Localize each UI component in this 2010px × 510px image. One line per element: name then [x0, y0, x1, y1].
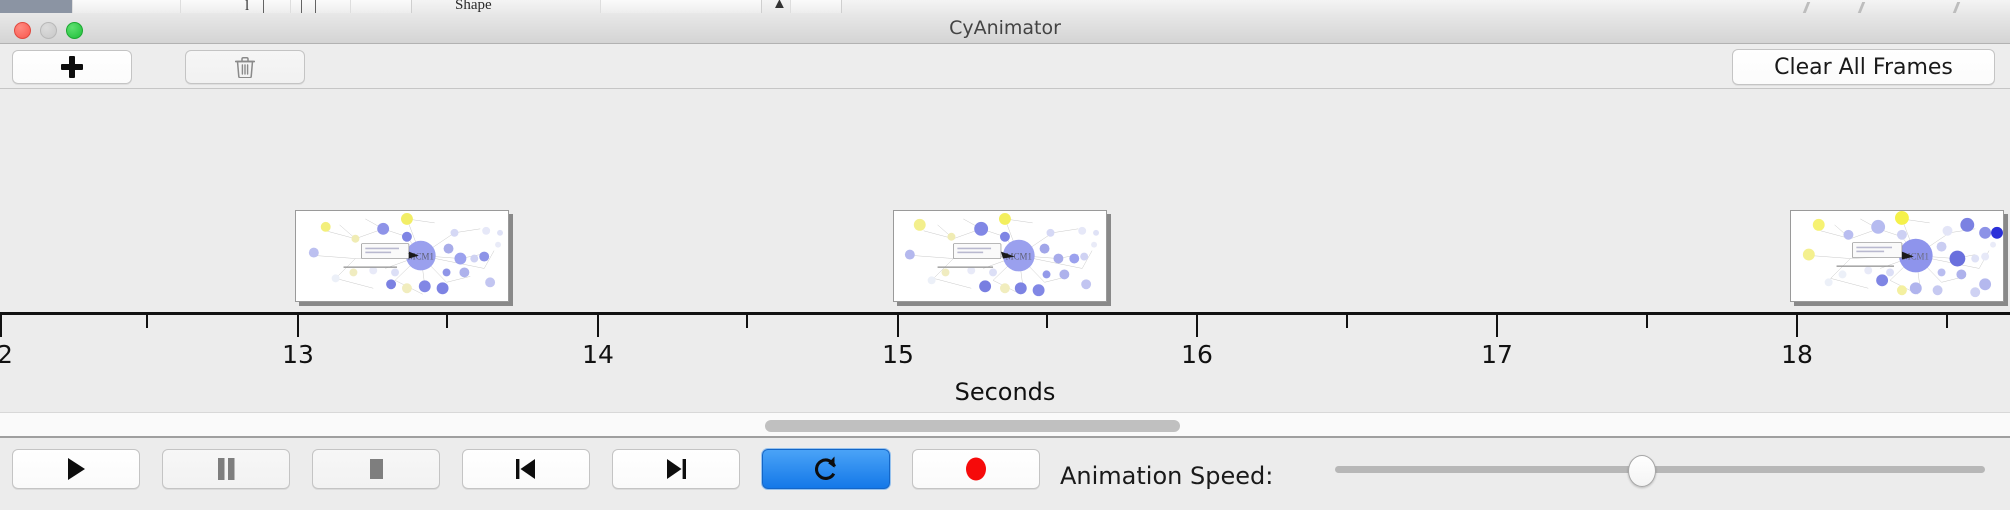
background-toolbar-chip [180, 0, 292, 13]
loop-button[interactable] [762, 449, 890, 489]
playback-controls: Animation Speed: [0, 440, 2010, 510]
clear-all-frames-button[interactable]: Clear All Frames [1732, 49, 1995, 85]
axis-tick-minor [746, 315, 748, 328]
add-frame-button[interactable] [12, 50, 132, 84]
skip-back-button[interactable] [462, 449, 590, 489]
axis-tick-minor [1946, 315, 1948, 328]
skip-forward-icon [663, 456, 689, 482]
network-thumbnail: MCM1 [1791, 211, 2003, 302]
axis-tick-major [1796, 315, 1798, 337]
axis-tick-major [597, 315, 599, 337]
timeline-axis [0, 312, 2010, 315]
background-window-sliver: l | | | Shape ▲ [0, 0, 2010, 14]
axis-tick-minor [446, 315, 448, 328]
stop-button[interactable] [312, 449, 440, 489]
timeline-panel[interactable]: MCM1 [0, 90, 2010, 412]
background-decoration [1953, 2, 1976, 13]
axis-tick-minor [1346, 315, 1348, 328]
axis-title: Seconds [0, 378, 2010, 406]
record-icon [963, 455, 989, 483]
axis-tick-minor [146, 315, 148, 328]
axis-tick-major [1196, 315, 1198, 337]
trash-icon [235, 56, 255, 78]
axis-tick-label: 17 [1481, 340, 1513, 369]
loop-icon [813, 455, 839, 483]
timeline-frame[interactable]: MCM1 [1790, 210, 2004, 302]
axis-tick-label: 14 [582, 340, 614, 369]
animation-speed-label: Animation Speed: [1060, 462, 1273, 490]
scrollbar-thumb[interactable] [765, 420, 1180, 432]
slider-track[interactable] [1335, 466, 1985, 473]
title-bar[interactable]: CyAnimator [0, 13, 2010, 44]
clear-all-frames-label: Clear All Frames [1774, 55, 1953, 80]
play-icon [64, 456, 88, 482]
toolbar: Clear All Frames [0, 44, 2010, 89]
axis-tick-label: 18 [1781, 340, 1813, 369]
axis-tick-minor [1646, 315, 1648, 328]
background-decoration [1858, 2, 1881, 13]
skip-back-icon [513, 456, 539, 482]
stop-icon [365, 456, 387, 482]
background-toolbar-chip [72, 0, 182, 13]
network-thumbnail: MCM1 [894, 211, 1106, 302]
axis-tick-major [0, 315, 2, 337]
timeline-frame[interactable]: MCM1 [893, 210, 1107, 302]
play-button[interactable] [12, 449, 140, 489]
axis-tick-label: 2 [0, 340, 13, 369]
axis-tick-minor [1046, 315, 1048, 328]
record-button[interactable] [912, 449, 1040, 489]
background-window-titlebar-chip [0, 0, 72, 13]
axis-tick-major [297, 315, 299, 337]
plus-icon [61, 56, 83, 78]
skip-forward-button[interactable] [612, 449, 740, 489]
background-window-label: Shape [455, 0, 492, 14]
background-toolbar-chip [790, 0, 842, 13]
delete-frame-button[interactable] [185, 50, 305, 84]
pause-icon [215, 456, 237, 482]
network-thumbnail: MCM1 [296, 211, 508, 302]
background-toolbar-chip [600, 0, 762, 13]
axis-tick-label: 16 [1181, 340, 1213, 369]
timeline-frame[interactable]: MCM1 [295, 210, 509, 302]
cyanimator-window: l | | | Shape ▲ CyAnimator [0, 0, 2010, 510]
background-decoration [1803, 2, 1826, 13]
animation-speed-slider[interactable] [1335, 449, 1985, 489]
slider-thumb[interactable] [1628, 455, 1656, 487]
window-title: CyAnimator [0, 13, 2010, 44]
axis-tick-major [897, 315, 899, 337]
axis-tick-label: 15 [882, 340, 914, 369]
background-toolbar-chip [350, 0, 412, 13]
pause-button[interactable] [162, 449, 290, 489]
axis-tick-major [1496, 315, 1498, 337]
timeline-horizontal-scrollbar[interactable] [0, 412, 2010, 438]
axis-tick-label: 13 [282, 340, 314, 369]
